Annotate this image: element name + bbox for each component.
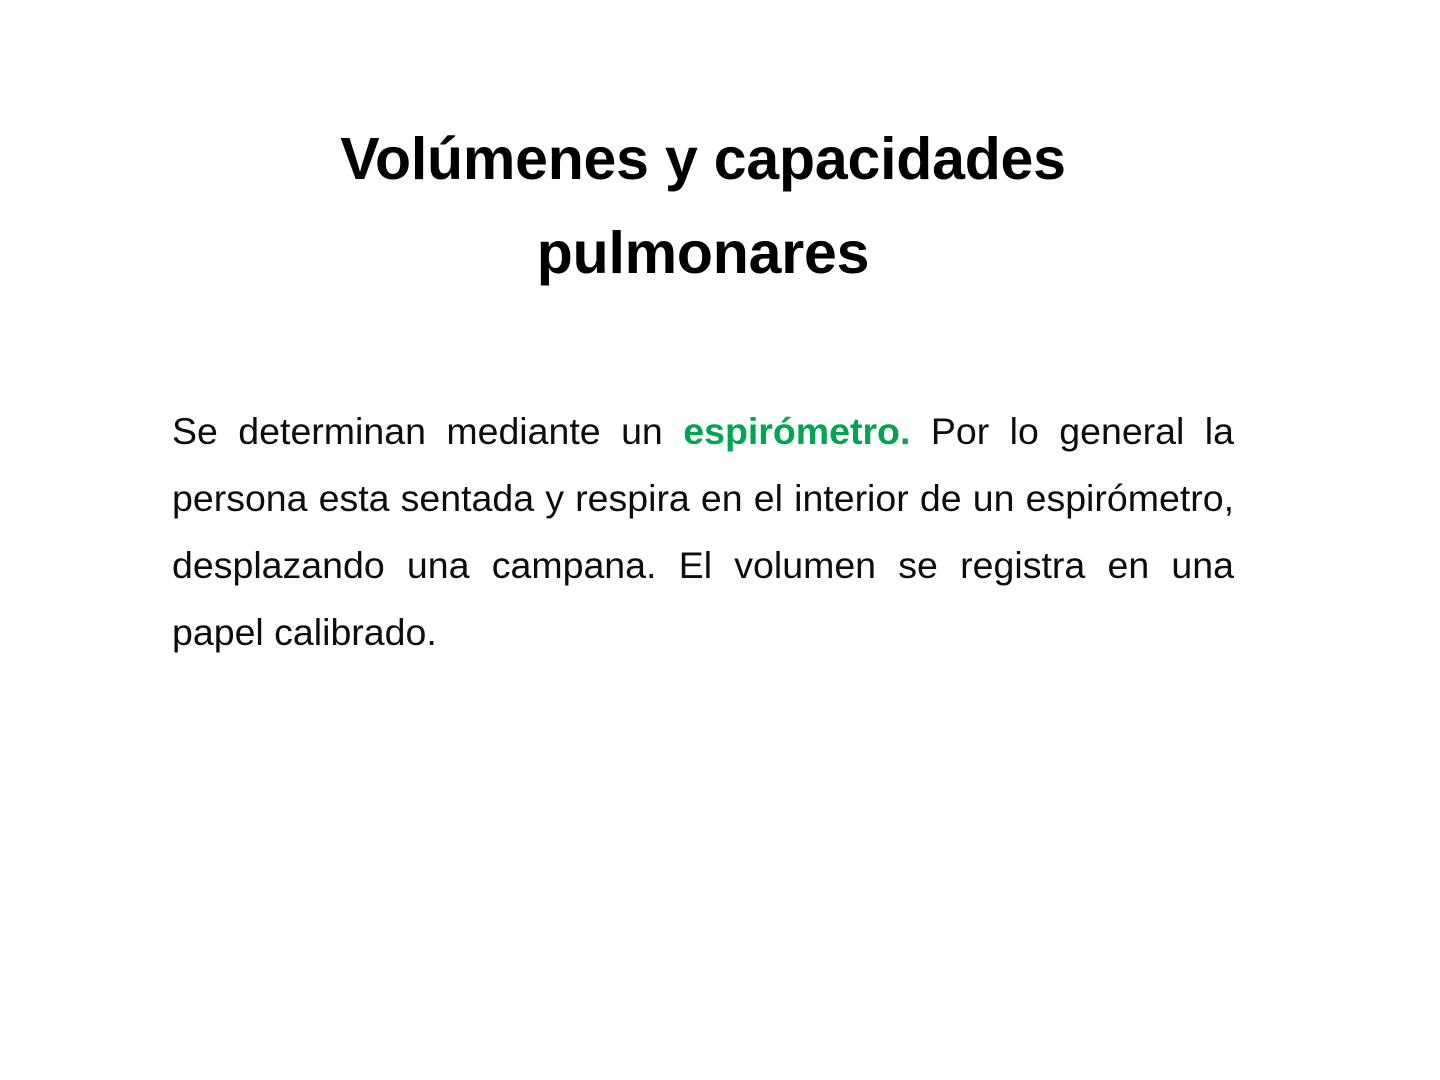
slide-canvas: Volúmenes y capacidades pulmonares Se de…: [0, 0, 1440, 1080]
page-title: Volúmenes y capacidades pulmonares: [172, 112, 1234, 300]
highlighted-term-espirometro: espirómetro.: [683, 410, 910, 452]
body-text-before: Se determinan mediante un: [172, 410, 683, 452]
body-paragraph: Se determinan mediante un espirómetro. P…: [172, 398, 1234, 666]
